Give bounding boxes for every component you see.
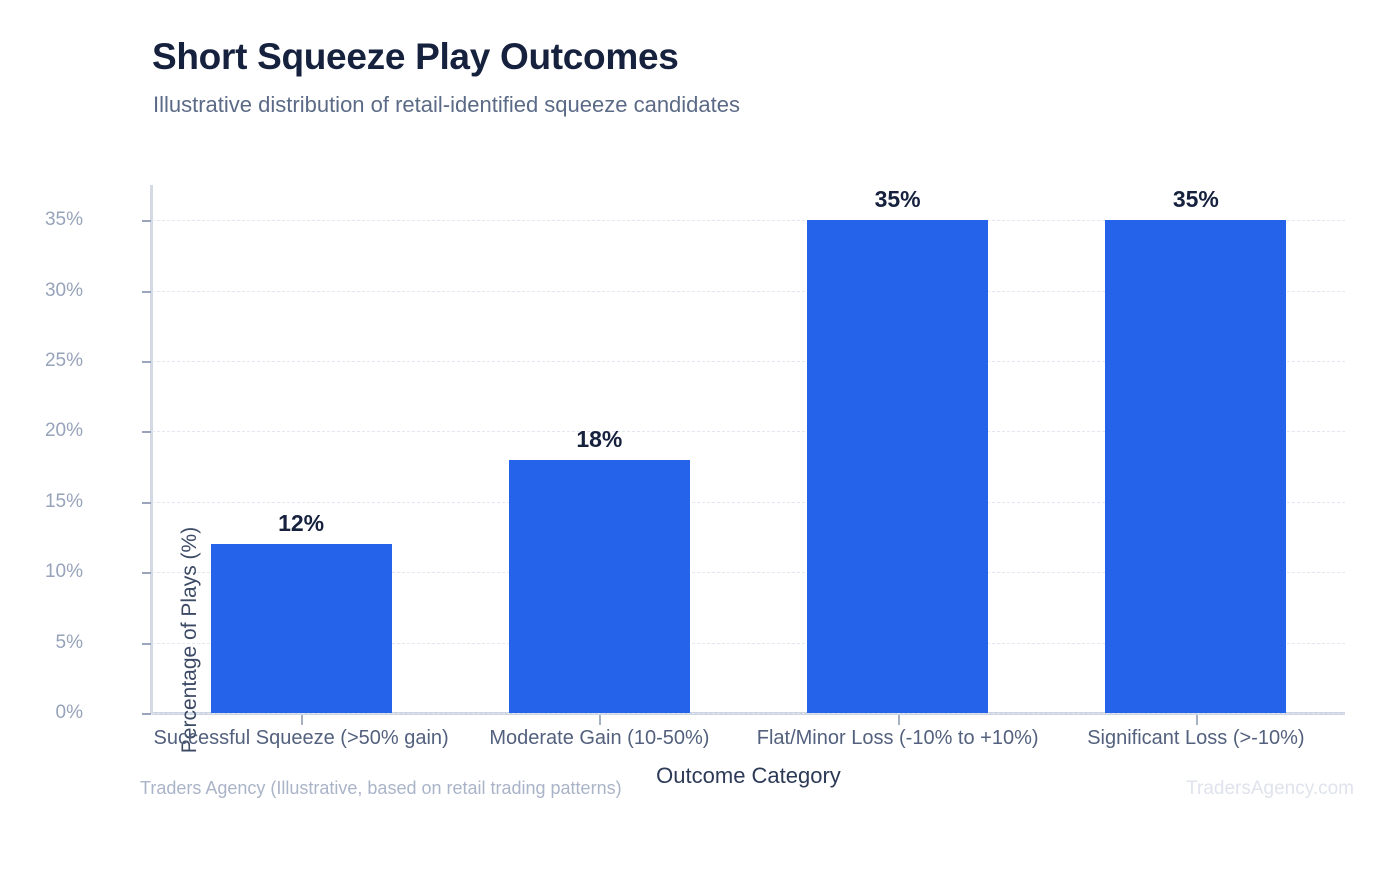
y-tick-label: 25% xyxy=(0,350,83,372)
x-tick-mark xyxy=(301,715,303,725)
y-tick-label: 35% xyxy=(0,209,83,231)
bar-value-label: 35% xyxy=(807,186,988,213)
x-tick-mark xyxy=(898,715,900,725)
x-axis-title-text: Outcome Category xyxy=(656,763,841,788)
source-note: Traders Agency (Illustrative, based on r… xyxy=(140,778,622,799)
y-tick-mark xyxy=(142,643,151,645)
x-tick-label: Flat/Minor Loss (-10% to +10%) xyxy=(757,727,1039,750)
bar[interactable] xyxy=(211,544,392,713)
y-tick-mark xyxy=(142,361,151,363)
y-tick-label: 15% xyxy=(0,491,83,513)
y-tick-label: 30% xyxy=(0,280,83,302)
y-tick-mark xyxy=(142,291,151,293)
watermark: TradersAgency.com xyxy=(1186,778,1354,800)
y-axis-title: Percentage of Plays (%) xyxy=(178,410,202,870)
bar[interactable] xyxy=(1105,220,1286,713)
x-tick-label: Moderate Gain (10-50%) xyxy=(489,727,709,750)
bar-value-label: 35% xyxy=(1105,186,1286,213)
chart-subtitle: Illustrative distribution of retail-iden… xyxy=(153,92,740,118)
gridline xyxy=(152,713,1345,714)
x-tick-label: Significant Loss (>-10%) xyxy=(1087,727,1304,750)
y-tick-mark xyxy=(142,502,151,504)
y-tick-label: 0% xyxy=(0,702,83,724)
plot-area: Percentage of Plays (%) xyxy=(152,185,1345,713)
y-tick-mark xyxy=(142,431,151,433)
bar[interactable] xyxy=(807,220,988,713)
x-tick-label: Successful Squeeze (>50% gain) xyxy=(154,727,449,750)
y-tick-label: 20% xyxy=(0,420,83,442)
y-tick-label: 5% xyxy=(0,632,83,654)
x-tick-mark xyxy=(1196,715,1198,725)
y-tick-label: 10% xyxy=(0,561,83,583)
bar-value-label: 12% xyxy=(211,510,392,537)
chart-title: Short Squeeze Play Outcomes xyxy=(152,36,679,78)
y-tick-mark xyxy=(142,572,151,574)
y-tick-mark xyxy=(142,220,151,222)
x-tick-mark xyxy=(599,715,601,725)
bar[interactable] xyxy=(509,460,690,713)
bar-value-label: 18% xyxy=(509,426,690,453)
chart-container: Short Squeeze Play Outcomes Illustrative… xyxy=(0,0,1389,845)
y-tick-mark xyxy=(142,713,151,715)
